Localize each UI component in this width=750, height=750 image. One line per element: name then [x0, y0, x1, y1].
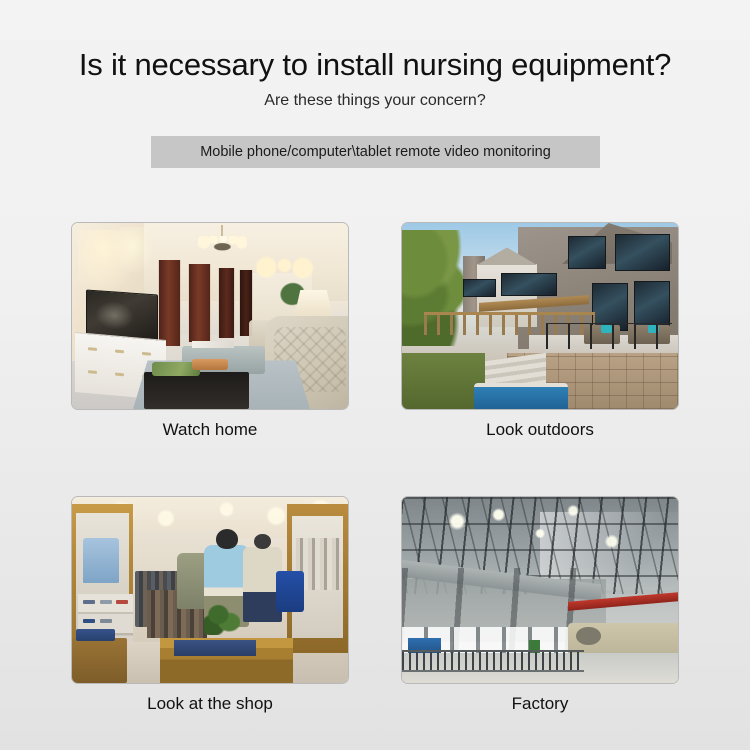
- feature-banner-label: Mobile phone/computer\tablet remote vide…: [200, 144, 551, 160]
- window-6: [463, 279, 496, 298]
- gallery-caption: Look outdoors: [401, 420, 679, 440]
- gallery-caption: Watch home: [71, 420, 349, 440]
- blue-jacket: [276, 571, 304, 612]
- wood-door-1: [158, 260, 181, 346]
- window-2: [568, 236, 607, 269]
- display-platform: [160, 638, 292, 683]
- page-subtitle: Are these things your concern?: [0, 92, 750, 110]
- window-1: [615, 234, 670, 271]
- wood-door-2: [188, 264, 211, 342]
- swimming-pool: [474, 383, 568, 409]
- gallery-caption: Factory: [401, 694, 679, 714]
- coffee-table: [144, 372, 249, 409]
- chandelier: [188, 225, 257, 258]
- photo-living-room: [72, 223, 348, 409]
- photo-frame-factory: [401, 496, 679, 684]
- gallery-tile-watch-home[interactable]: Watch home: [71, 222, 349, 440]
- store-plant: [204, 601, 240, 634]
- window-3: [634, 281, 670, 329]
- ceiling-lamps: [402, 504, 678, 571]
- mannequin-suit-head: [254, 534, 271, 549]
- denim-display-table: [72, 638, 127, 683]
- scene-gallery: Watch home: [71, 222, 679, 714]
- photo-frame-watch-home: [71, 222, 349, 410]
- deck-railing: [546, 323, 673, 349]
- safety-railing: [402, 650, 584, 672]
- wood-door-3: [218, 268, 235, 339]
- mannequin-head: [216, 529, 238, 549]
- gallery-row-1: Watch home: [71, 222, 679, 440]
- photo-factory-interior: [402, 497, 678, 683]
- photo-house-exterior: [402, 223, 678, 409]
- promo-page: Is it necessary to install nursing equip…: [0, 0, 750, 750]
- wall-light-glow-secondary: [111, 227, 155, 275]
- hanging-shirt: [83, 538, 119, 583]
- gallery-row-2: Look at the shop: [71, 496, 679, 714]
- gallery-tile-factory[interactable]: Factory: [401, 496, 679, 714]
- gallery-caption: Look at the shop: [71, 694, 349, 714]
- photo-frame-look-outdoors: [401, 222, 679, 410]
- gallery-tile-look-outdoors[interactable]: Look outdoors: [401, 222, 679, 440]
- window-5: [501, 273, 556, 295]
- photo-clothing-store: [72, 497, 348, 683]
- lawn: [402, 353, 485, 409]
- pendant-lights: [254, 253, 315, 279]
- photo-frame-look-at-the-shop: [71, 496, 349, 684]
- feature-banner: Mobile phone/computer\tablet remote vide…: [151, 136, 600, 168]
- page-title: Is it necessary to install nursing equip…: [0, 48, 750, 82]
- gallery-tile-look-at-the-shop[interactable]: Look at the shop: [71, 496, 349, 714]
